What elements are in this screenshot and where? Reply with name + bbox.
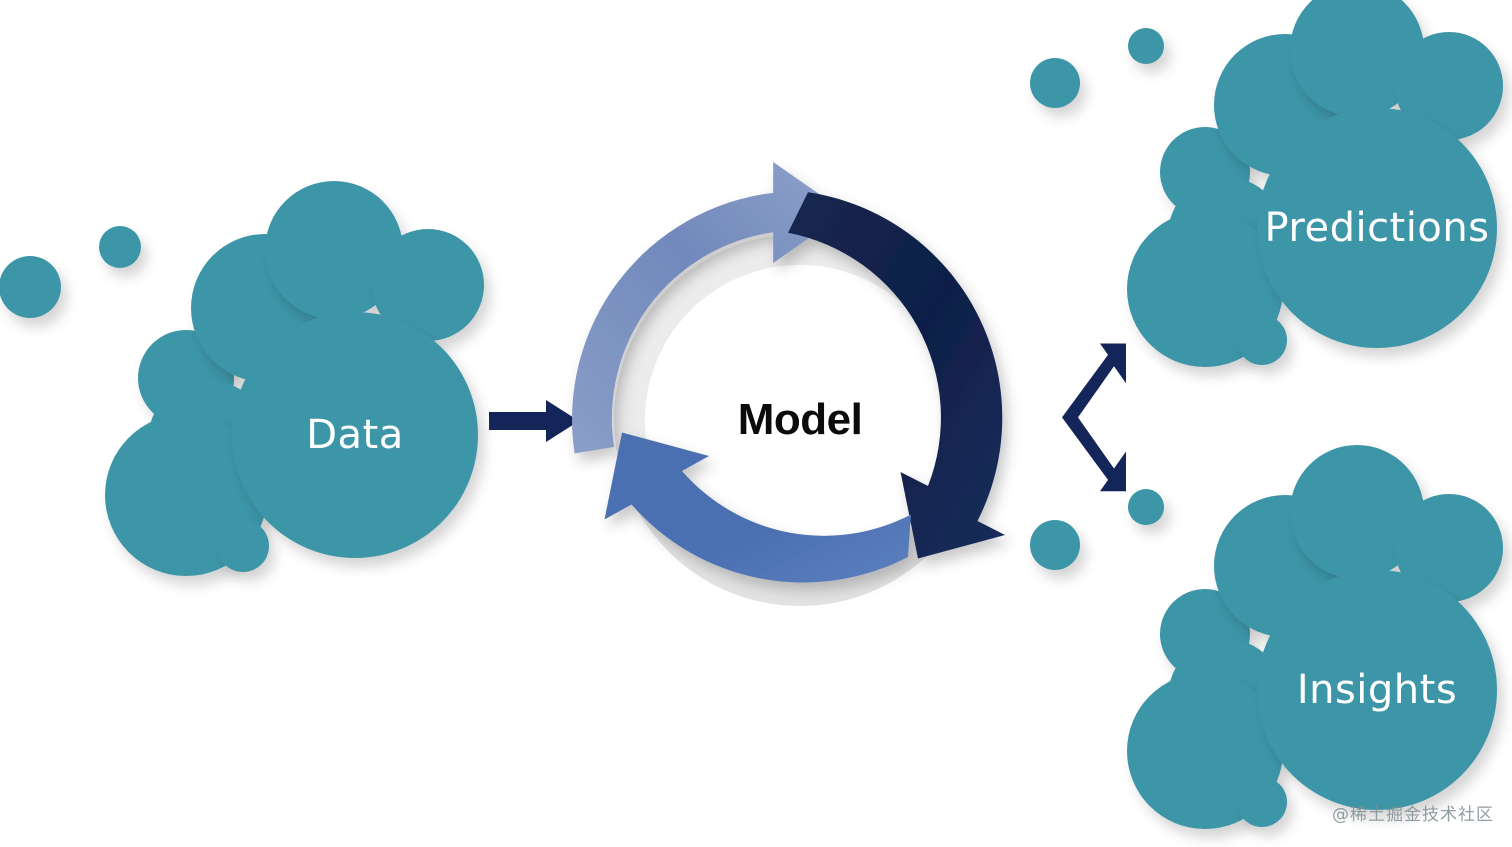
bubble <box>1237 777 1287 827</box>
watermark: @稀土掘金技术社区 <box>1332 800 1494 825</box>
diagram-canvas: Data <box>0 0 1512 847</box>
bubble <box>1128 489 1164 525</box>
bubble <box>1030 520 1080 570</box>
insights-bubble-cluster[interactable] <box>0 0 1512 847</box>
bubble <box>1257 570 1497 810</box>
